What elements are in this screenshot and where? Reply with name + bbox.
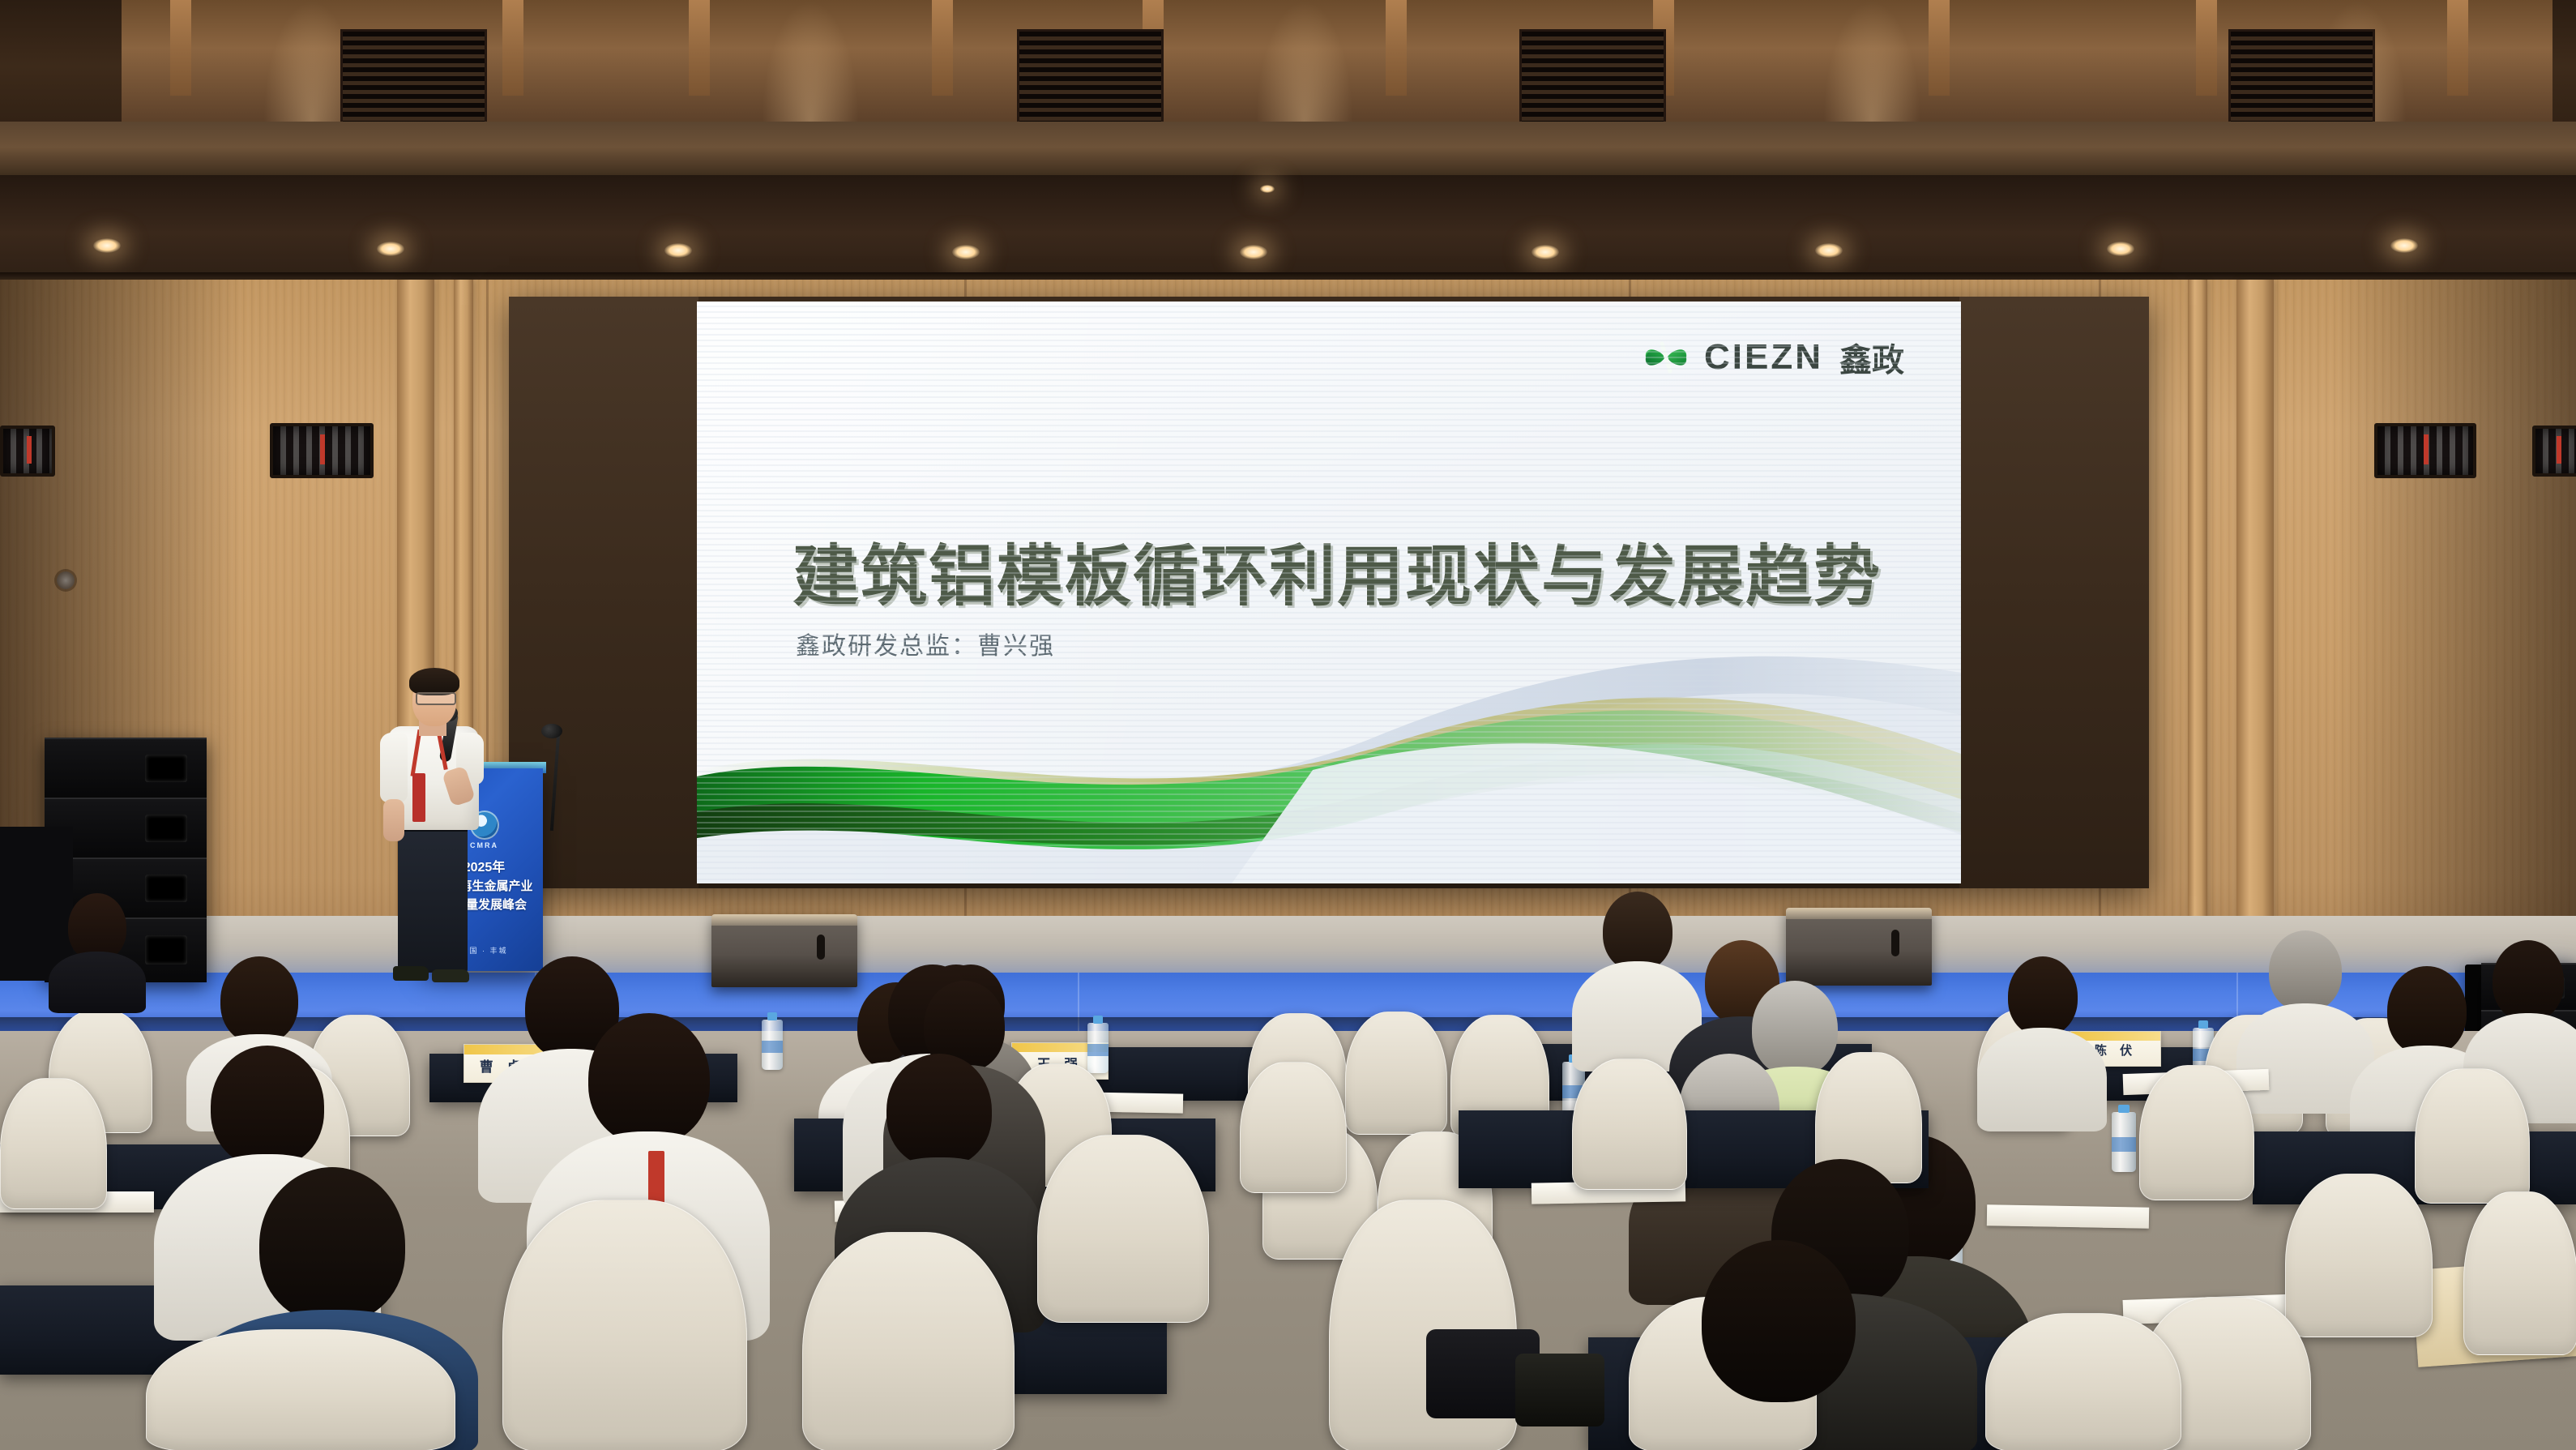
wall-shadow-right: [2333, 280, 2576, 960]
ceiling-beam: [2196, 0, 2217, 96]
led-wall-panel-right: [1959, 297, 2149, 888]
ceiling-beam: [1929, 0, 1950, 96]
wall-grille-icon: [270, 423, 374, 478]
ceiling-downlight: [1815, 243, 1843, 258]
ceiling-downlight: [664, 243, 692, 258]
ceiling-air-vent: [1519, 29, 1666, 125]
ceiling-coffer-recess: [122, 0, 2553, 122]
slide-logo-chinese: 鑫政: [1839, 334, 1904, 381]
presenter-glasses-icon: [416, 692, 456, 705]
audience-member: [1613, 1240, 1937, 1450]
ceiling-beam: [2447, 0, 2468, 96]
audience-chair: [2139, 1065, 2254, 1200]
wall-pilaster: [2188, 280, 2207, 960]
ceiling-air-vent: [2228, 29, 2375, 125]
wall-grille-icon: [0, 426, 55, 477]
ceiling-lower-plane: [0, 175, 2576, 280]
audience-chair: [2463, 1191, 2576, 1355]
audience-member: [49, 893, 146, 1007]
audience-chair: [1240, 1062, 1347, 1193]
audience-chair: [802, 1232, 1015, 1450]
ceiling-downlight: [952, 245, 980, 259]
audience-chair: [502, 1200, 747, 1450]
slide-logo-wordmark: CIEZN: [1704, 337, 1823, 378]
audience-chair: [1985, 1313, 2181, 1450]
audience-chair: [1345, 1012, 1447, 1135]
stage-monitor-speaker-icon: [711, 914, 857, 987]
led-video-wall[interactable]: CIEZN 鑫政 建筑铝模板循环利用现状与发展趋势 鑫政研发总监：曹兴强: [509, 297, 2149, 888]
ceiling-beam: [1386, 0, 1407, 96]
ceiling-air-vent: [340, 29, 487, 125]
wall-grille-icon: [2532, 426, 2576, 477]
audience-member: [1977, 956, 2107, 1127]
ceiling-downlight: [2107, 242, 2134, 256]
ceiling-downlight: [377, 242, 404, 256]
presenter-shoe: [393, 966, 429, 981]
presenter-hair: [409, 668, 459, 695]
audience-chair: [0, 1078, 107, 1209]
ciezn-leaf-logo-icon: [1641, 332, 1691, 383]
table-document: [1987, 1204, 2149, 1228]
audience-chair: [146, 1329, 455, 1450]
ceiling-downlight: [1532, 245, 1559, 259]
ceiling-downlight: [2390, 238, 2418, 253]
presenter-trousers: [398, 827, 468, 973]
audience-chair: [2415, 1068, 2530, 1204]
audience-chair: [1037, 1135, 1209, 1323]
wall-pilaster: [2236, 280, 2274, 960]
slide-wave-graphic: [697, 640, 1961, 883]
slide-subtitle: 鑫政研发总监：曹兴强: [796, 626, 1055, 661]
presenter-sleeve-left: [380, 733, 408, 802]
floor-bag: [1515, 1354, 1604, 1426]
presenter-forearm-left: [383, 799, 404, 841]
wall-grille-icon: [2374, 423, 2476, 478]
water-bottle: [2112, 1112, 2136, 1172]
slide-title: 建筑铝模板循环利用现状与发展趋势: [792, 522, 1882, 618]
presenter-badge: [412, 773, 425, 822]
conference-hall-scene: CIEZN 鑫政 建筑铝模板循环利用现状与发展趋势 鑫政研发总监：曹兴强: [0, 0, 2576, 1450]
ceiling-beam: [689, 0, 710, 96]
presenter: [369, 665, 515, 981]
ceiling-smoke-detector: [1260, 185, 1275, 193]
ceiling-beam: [170, 0, 191, 96]
water-bottle: [1087, 1023, 1109, 1073]
ceiling-downlight: [93, 238, 121, 253]
slide-brand-logo: CIEZN 鑫政: [1641, 332, 1904, 383]
audience-chair: [2285, 1174, 2433, 1337]
ceiling-soffit: [0, 122, 2576, 178]
ceiling-downlight: [1240, 245, 1267, 259]
ceiling-beam: [932, 0, 953, 96]
microphone-head-icon: [541, 724, 562, 738]
ceiling-beam: [502, 0, 523, 96]
presenter-shoe: [432, 969, 469, 982]
ceiling-air-vent: [1017, 29, 1164, 125]
presentation-slide[interactable]: CIEZN 鑫政 建筑铝模板循环利用现状与发展趋势 鑫政研发总监：曹兴强: [697, 302, 1961, 883]
audience-chair: [1572, 1059, 1687, 1190]
